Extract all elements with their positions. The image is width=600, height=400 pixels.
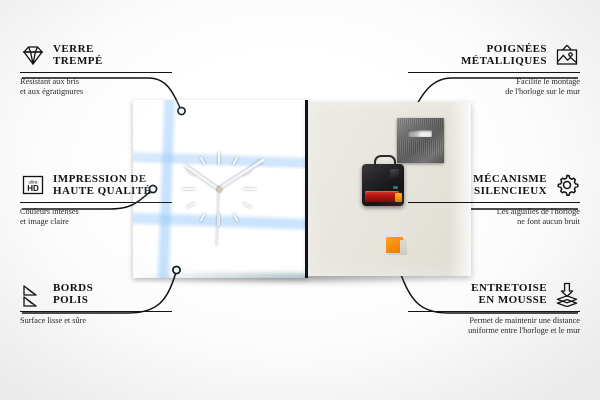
- callout-title: ENTRETOISE EN MOUSSE: [471, 282, 547, 307]
- ultra-hd-icon: ultra HD: [20, 172, 46, 198]
- gear-icon: [554, 172, 580, 198]
- callout-subtitle: Surface lisse et sûre: [20, 316, 192, 326]
- callout-entretoise-en-mousse: ENTRETOISE EN MOUSSE Permet de maintenir…: [408, 281, 580, 336]
- hanger-slot: [408, 130, 432, 137]
- metal-hanger-plate: [397, 118, 444, 163]
- svg-text:HD: HD: [27, 184, 39, 193]
- foam-spacer-arrow-icon: [554, 281, 580, 307]
- callout-header: MÉCANISME SILENCIEUX: [408, 172, 580, 198]
- polished-edges-icon: [20, 281, 46, 307]
- callout-rule: [408, 311, 580, 312]
- movement-knob: [390, 169, 399, 178]
- callout-subtitle: Permet de maintenir une distance uniform…: [408, 316, 580, 336]
- clock-dial: [133, 100, 305, 278]
- callout-rule: [408, 202, 580, 203]
- foam-spacer: [386, 237, 403, 253]
- clock-face-panel: [133, 100, 308, 278]
- callout-title: MÉCANISME SILENCIEUX: [473, 173, 547, 198]
- callout-header: POIGNÉES MÉTALLIQUES: [408, 42, 580, 68]
- diamond-icon: [20, 42, 46, 68]
- callout-rule: [408, 72, 580, 73]
- callout-header: BORDS POLIS: [20, 281, 192, 307]
- battery: [365, 191, 399, 202]
- callout-header: ENTRETOISE EN MOUSSE: [408, 281, 580, 307]
- callout-poignees-metalliques: POIGNÉES MÉTALLIQUES Facilite le montage…: [408, 42, 580, 97]
- picture-frame-hanger-icon: [554, 42, 580, 68]
- callout-title: POIGNÉES MÉTALLIQUES: [461, 43, 547, 68]
- callout-title: BORDS POLIS: [53, 282, 93, 307]
- callout-header: VERRE TREMPÉ: [20, 42, 192, 68]
- clock-hour-hand: [184, 164, 220, 191]
- infographic-stage: VERRE TREMPÉ Résistant aux bris et aux é…: [0, 0, 600, 400]
- callout-rule: [20, 311, 172, 312]
- clock-center-pin: [217, 187, 222, 192]
- callout-subtitle: Facilite le montage de l'horloge sur le …: [408, 77, 580, 97]
- callout-title: VERRE TREMPÉ: [53, 43, 103, 68]
- quartz-movement: [362, 164, 404, 206]
- callout-subtitle: Résistant aux bris et aux égratignures: [20, 77, 192, 97]
- callout-rule: [20, 72, 172, 73]
- movement-bail: [374, 155, 396, 168]
- callout-bords-polis: BORDS POLIS Surface lisse et sûre: [20, 281, 192, 326]
- callout-verre-trempe: VERRE TREMPÉ Résistant aux bris et aux é…: [20, 42, 192, 97]
- callout-mecanisme-silencieux: MÉCANISME SILENCIEUX Les aiguilles de l'…: [408, 172, 580, 227]
- movement-label: [393, 186, 398, 189]
- callout-subtitle: Les aiguilles de l'horloge ne font aucun…: [408, 207, 580, 227]
